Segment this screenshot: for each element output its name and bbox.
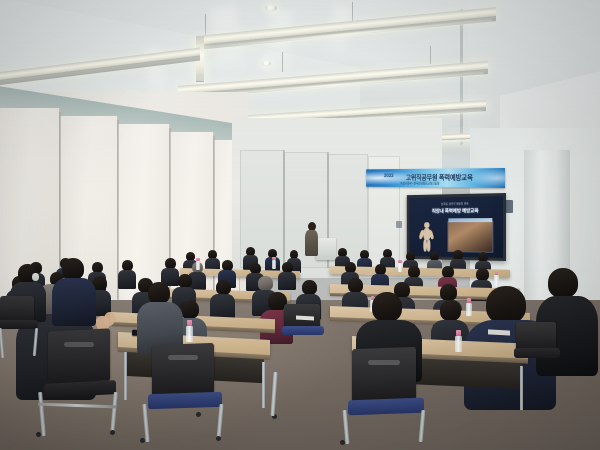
chair-caster [110, 430, 115, 435]
ceiling-edge-shadow [460, 9, 463, 145]
event-banner: 2022 고위직공무원 폭력예방교육 여성가족부 · 한국양성평등교육진흥원 [366, 168, 505, 188]
chair-caster [140, 438, 145, 443]
chair-handle-slot [168, 355, 198, 360]
table-leg [124, 352, 127, 400]
chair-handle-slot [368, 360, 400, 365]
water-bottle [494, 272, 499, 286]
slide-photo [448, 222, 492, 252]
seminar-room-photo: 2022 고위직공무원 폭력예방교육 여성가족부 · 한국양성평등교육진흥원 성… [0, 0, 600, 450]
paper-handout [488, 329, 510, 335]
presenter-body [305, 230, 318, 256]
downlight-icon [265, 5, 277, 11]
fixture-rod [282, 52, 283, 72]
water-bottle [466, 298, 472, 316]
chair-back[interactable] [352, 347, 416, 401]
chair-seat[interactable] [0, 320, 38, 329]
water-bottle [455, 330, 462, 352]
chair-caster [196, 412, 201, 417]
chair-back[interactable] [48, 328, 110, 383]
chair-seat-blue[interactable] [282, 326, 324, 335]
wall-outlet [396, 221, 402, 228]
chair-back[interactable] [0, 296, 34, 322]
presentation-slide: 성희롱·성폭력 예방을 위한 직장내 폭력예방 예방교육 [409, 196, 503, 258]
water-bottle [272, 257, 276, 269]
downlight-icon [262, 61, 271, 66]
chair-handle-slot [64, 342, 94, 347]
blind-seam [213, 136, 215, 304]
chair-caster [36, 432, 41, 437]
chair-seat[interactable] [514, 348, 560, 358]
chair-seat-blue[interactable] [348, 398, 424, 416]
water-bottle [398, 260, 402, 272]
banner-graphic-right [468, 169, 505, 187]
slide-eyebrow: 성희롱·성폭력 예방을 위한 [441, 202, 468, 206]
water-bottle [196, 258, 200, 270]
chair-caster [216, 436, 221, 441]
water-bottle [186, 320, 193, 342]
table-leg [262, 362, 265, 408]
chair-back[interactable] [516, 322, 556, 350]
fixture-rod [430, 46, 431, 64]
banner-subtitle: 여성가족부 · 한국양성평등교육진흥원 [400, 180, 439, 185]
paper-handout [296, 316, 314, 321]
slide-title: 직장내 폭력예방 예방교육 [432, 207, 479, 214]
podium [316, 238, 336, 260]
chair-caster [340, 440, 345, 445]
chair-seat-blue[interactable] [148, 392, 222, 410]
partition-gap [283, 150, 285, 268]
table-leg [520, 366, 523, 410]
banner-year: 2022 [384, 174, 394, 179]
slide-figure-illustration [417, 222, 436, 253]
chair-back[interactable] [152, 343, 214, 395]
